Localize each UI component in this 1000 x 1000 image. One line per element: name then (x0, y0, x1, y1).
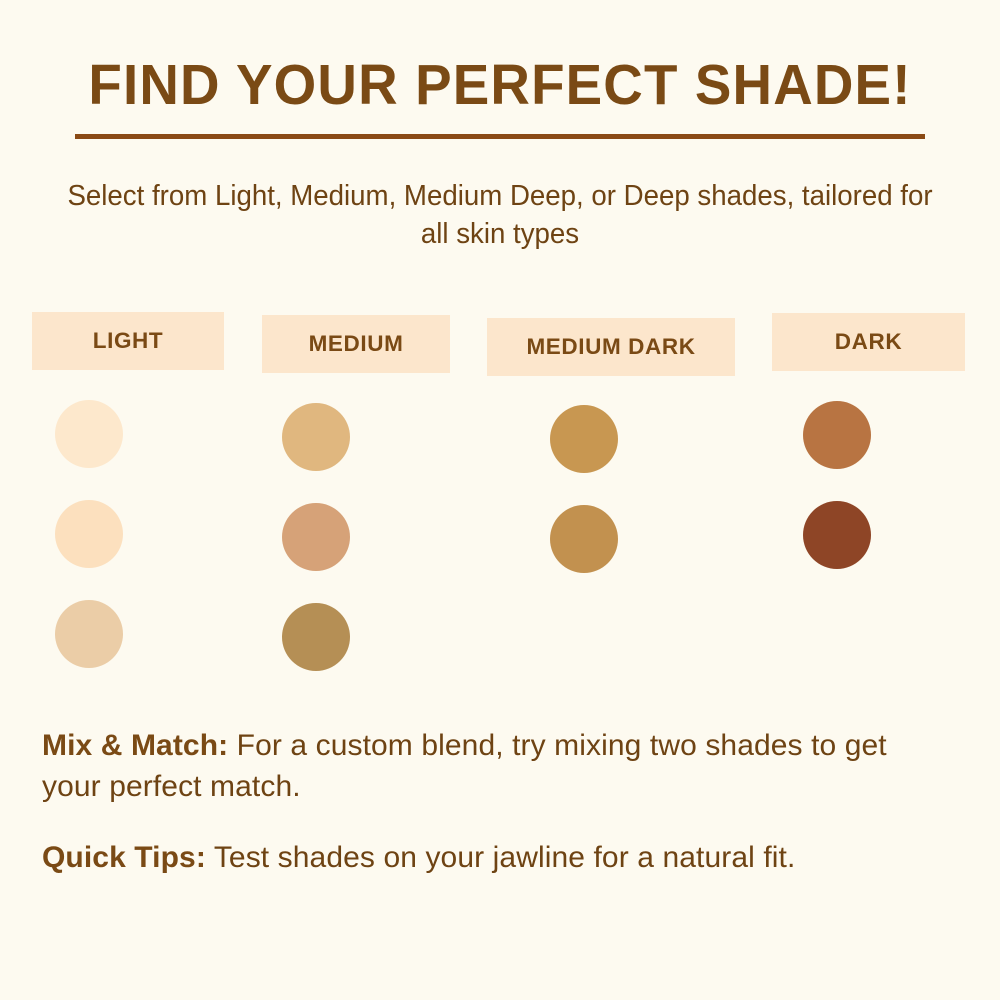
shade-category-label: DARK (835, 329, 902, 355)
note-label: Quick Tips: (42, 841, 206, 874)
page-subtitle: Select from Light, Medium, Medium Deep, … (54, 178, 946, 253)
medium-shade-3-swatch[interactable] (282, 603, 350, 671)
light-shade-1-swatch[interactable] (55, 400, 123, 468)
shade-finder-page: FIND YOUR PERFECT SHADE! Select from Lig… (0, 0, 1000, 1000)
shade-category-chip[interactable]: MEDIUM DARK (487, 318, 735, 376)
medium-shade-1-swatch[interactable] (282, 403, 350, 471)
header: FIND YOUR PERFECT SHADE! (0, 56, 1000, 139)
shade-category-label: MEDIUM (309, 331, 404, 357)
dark-shade-2-swatch[interactable] (803, 501, 871, 569)
shade-category-chip[interactable]: LIGHT (32, 312, 224, 370)
title-underline-rule (75, 134, 925, 139)
note-mix-and-match: Mix & Match: For a custom blend, try mix… (42, 726, 942, 808)
page-title: FIND YOUR PERFECT SHADE! (20, 56, 980, 116)
note-quick-tips: Quick Tips: Test shades on your jawline … (42, 838, 942, 879)
light-shade-2-swatch[interactable] (55, 500, 123, 568)
medium-dark-shade-2-swatch[interactable] (550, 505, 618, 573)
shade-category-label: LIGHT (93, 328, 164, 354)
shade-category-label: MEDIUM DARK (526, 334, 695, 360)
note-label: Mix & Match: (42, 729, 228, 762)
dark-shade-1-swatch[interactable] (803, 401, 871, 469)
shade-category-chip[interactable]: MEDIUM (262, 315, 450, 373)
shade-category-chip[interactable]: DARK (772, 313, 965, 371)
medium-dark-shade-1-swatch[interactable] (550, 405, 618, 473)
shade-grid: LIGHTMEDIUMMEDIUM DARKDARK (0, 300, 1000, 690)
note-text: Test shades on your jawline for a natura… (206, 841, 795, 874)
notes-section: Mix & Match: For a custom blend, try mix… (42, 726, 942, 908)
light-shade-3-swatch[interactable] (55, 600, 123, 668)
medium-shade-2-swatch[interactable] (282, 503, 350, 571)
